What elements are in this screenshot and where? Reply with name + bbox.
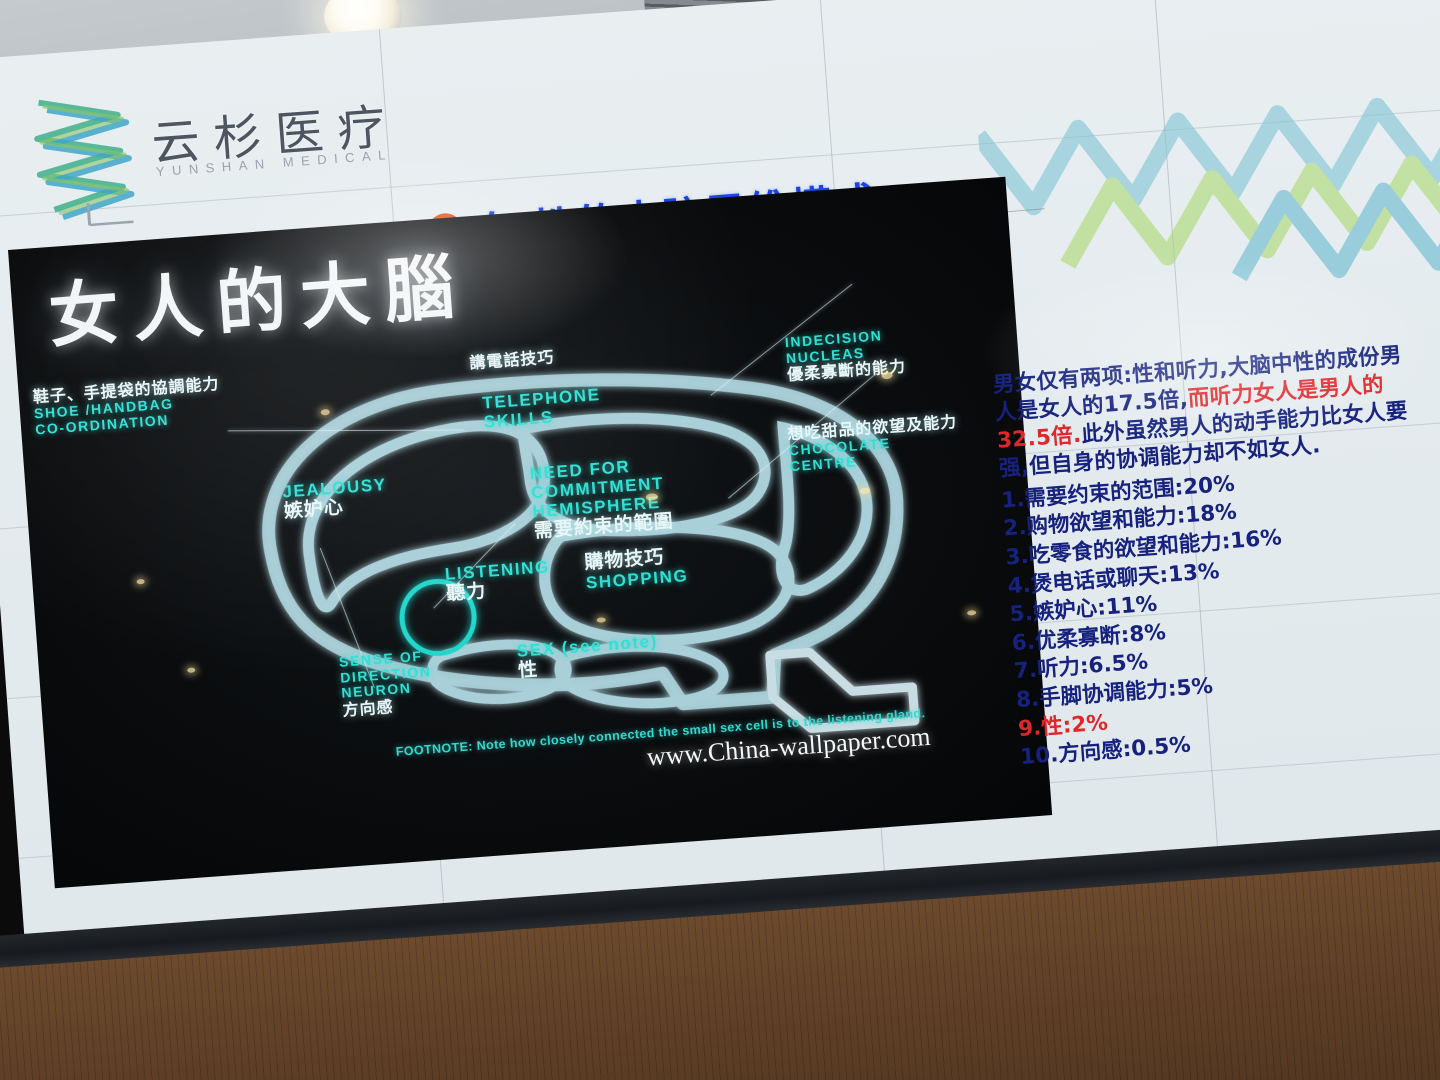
ranking-list: 1.需要约束的范围:20% 2.购物欲望和能力:18% 3.吃零食的欲望和能力:… bbox=[1000, 457, 1440, 773]
label-jealousy: JEALOUSY 嫉妒心 bbox=[282, 475, 389, 523]
spruce-zigzag-mark-icon bbox=[20, 87, 150, 230]
label-sense-of-direction: SENSE OF DIRECTION NEURON 方向感 bbox=[339, 648, 435, 719]
brain-diagram-heading: 女人的大腦 bbox=[45, 231, 471, 362]
screen-glare-dot bbox=[967, 610, 976, 616]
slide-body-text: 男女仅有两项:性和听力,大脑中性的成份男人是女人的17.5倍,而听力女人是男人的… bbox=[992, 341, 1440, 772]
brain-diagram-slide: 女人的大腦 bbox=[8, 177, 1052, 889]
screen-glare-dot bbox=[187, 667, 195, 673]
label-listening: LISTENING 聽力 bbox=[444, 557, 552, 605]
photo-scene: 云杉医疗 YUNSHAN MEDICAL 女 性的大脑思维模式 女人的大腦 bbox=[0, 0, 1440, 1080]
label-shopping: 購物技巧 SHOPPING bbox=[584, 545, 689, 593]
screen-glare-dot bbox=[136, 579, 144, 585]
